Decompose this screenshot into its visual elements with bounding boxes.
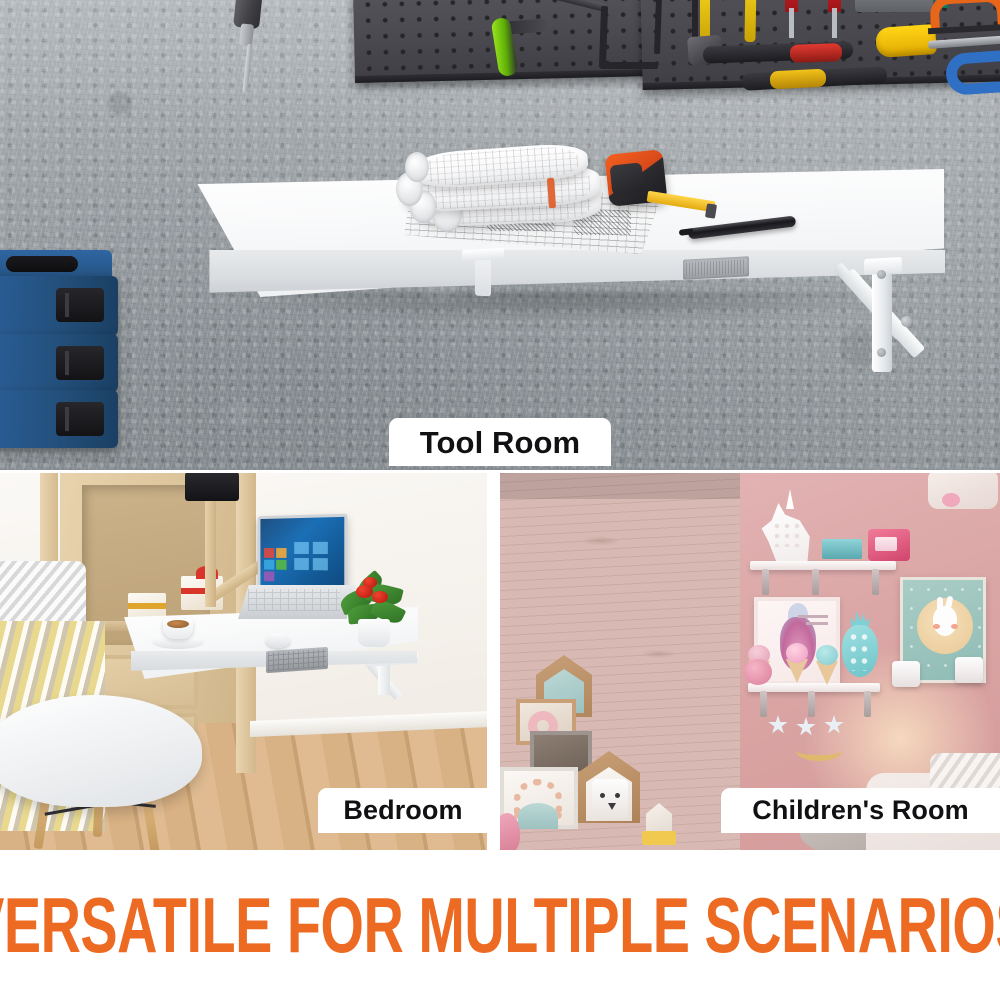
toy-radio	[868, 529, 910, 561]
tape-measure-face	[610, 162, 645, 195]
label-tool-room: Tool Room	[389, 418, 611, 466]
arch-decor	[518, 803, 558, 829]
laptop-keyboard	[248, 589, 340, 611]
tool-case	[0, 334, 118, 392]
poster-bunny-cheek	[951, 624, 958, 629]
laptop-screen	[258, 514, 348, 591]
label-tool-room-text: Tool Room	[420, 427, 580, 458]
label-childrens-room: Children's Room	[721, 788, 1000, 833]
headline-banner: VERSATILE FOR MULTIPLE SCENARIOS	[0, 850, 1000, 1000]
shelf-bracket	[762, 569, 769, 595]
unicorn-bulb-dots	[772, 521, 802, 547]
tool-case	[0, 390, 118, 448]
shelf-bracket	[808, 691, 815, 717]
product-infographic: Tool Room Bedroom Children's Room VERSAT…	[0, 0, 1000, 1000]
tool-case-latch	[56, 288, 104, 322]
poster-bunny-cheek	[933, 624, 940, 629]
poster-bunny-icon	[933, 606, 957, 636]
windows-logo-icon	[294, 542, 328, 571]
hanging-toy	[928, 473, 998, 509]
panel-tool-room	[0, 0, 1000, 470]
tool-case-handle	[6, 256, 78, 272]
headline-text: VERSATILE FOR MULTIPLE SCENARIOS	[0, 880, 1000, 970]
shelf-bracket	[872, 569, 879, 595]
start-menu-tiles-icon	[264, 548, 288, 584]
drill-chuck-icon	[239, 23, 254, 46]
book-decor	[822, 539, 862, 559]
coffee-surface	[167, 620, 189, 628]
ice-cream-scoop	[786, 643, 808, 663]
red-screwdriver-2-shaft-icon	[832, 8, 837, 38]
wall-case-icon	[855, 0, 933, 12]
yarn-ball	[744, 659, 772, 685]
pineapple-light-icon	[842, 625, 878, 677]
framed-art-text-line	[806, 622, 828, 625]
chair-seat	[0, 695, 202, 807]
tool-case-latch	[56, 346, 104, 380]
blueprint-roll-end	[405, 152, 429, 182]
yellow-chisel-icon	[744, 0, 756, 42]
plant-pot	[358, 619, 390, 647]
framed-art-text-line	[798, 615, 828, 618]
wall-sconce-light	[955, 657, 983, 683]
desk-lamp-shade	[185, 473, 239, 501]
ice-cream-scoop	[816, 645, 838, 665]
red-screwdriver-shaft-icon	[789, 8, 794, 38]
label-bedroom: Bedroom	[318, 788, 488, 833]
hammer-red-grip-icon	[790, 43, 843, 63]
blue-clamp-icon	[945, 50, 1000, 96]
wall-sconce-light	[892, 661, 920, 687]
shelf-bracket	[864, 691, 871, 717]
plant-flower	[372, 591, 388, 603]
shelf-bracket	[812, 569, 819, 595]
tool-case	[0, 276, 118, 336]
bead-garland	[796, 741, 842, 761]
label-bedroom-text: Bedroom	[343, 797, 462, 824]
hammer-2-yellow-grip-icon	[770, 69, 827, 90]
mouse-icon	[266, 633, 290, 648]
hex-key-arm-icon	[600, 62, 658, 69]
tool-case-latch	[56, 402, 104, 436]
desk-lamp-post	[205, 497, 216, 607]
keyboard	[266, 647, 328, 673]
wall-top-shadow	[500, 473, 740, 499]
shelf-bracket	[760, 691, 767, 717]
plant-flower	[356, 585, 373, 598]
label-childrens-room-text: Children's Room	[752, 797, 968, 824]
yellow-block-decor	[642, 831, 676, 845]
